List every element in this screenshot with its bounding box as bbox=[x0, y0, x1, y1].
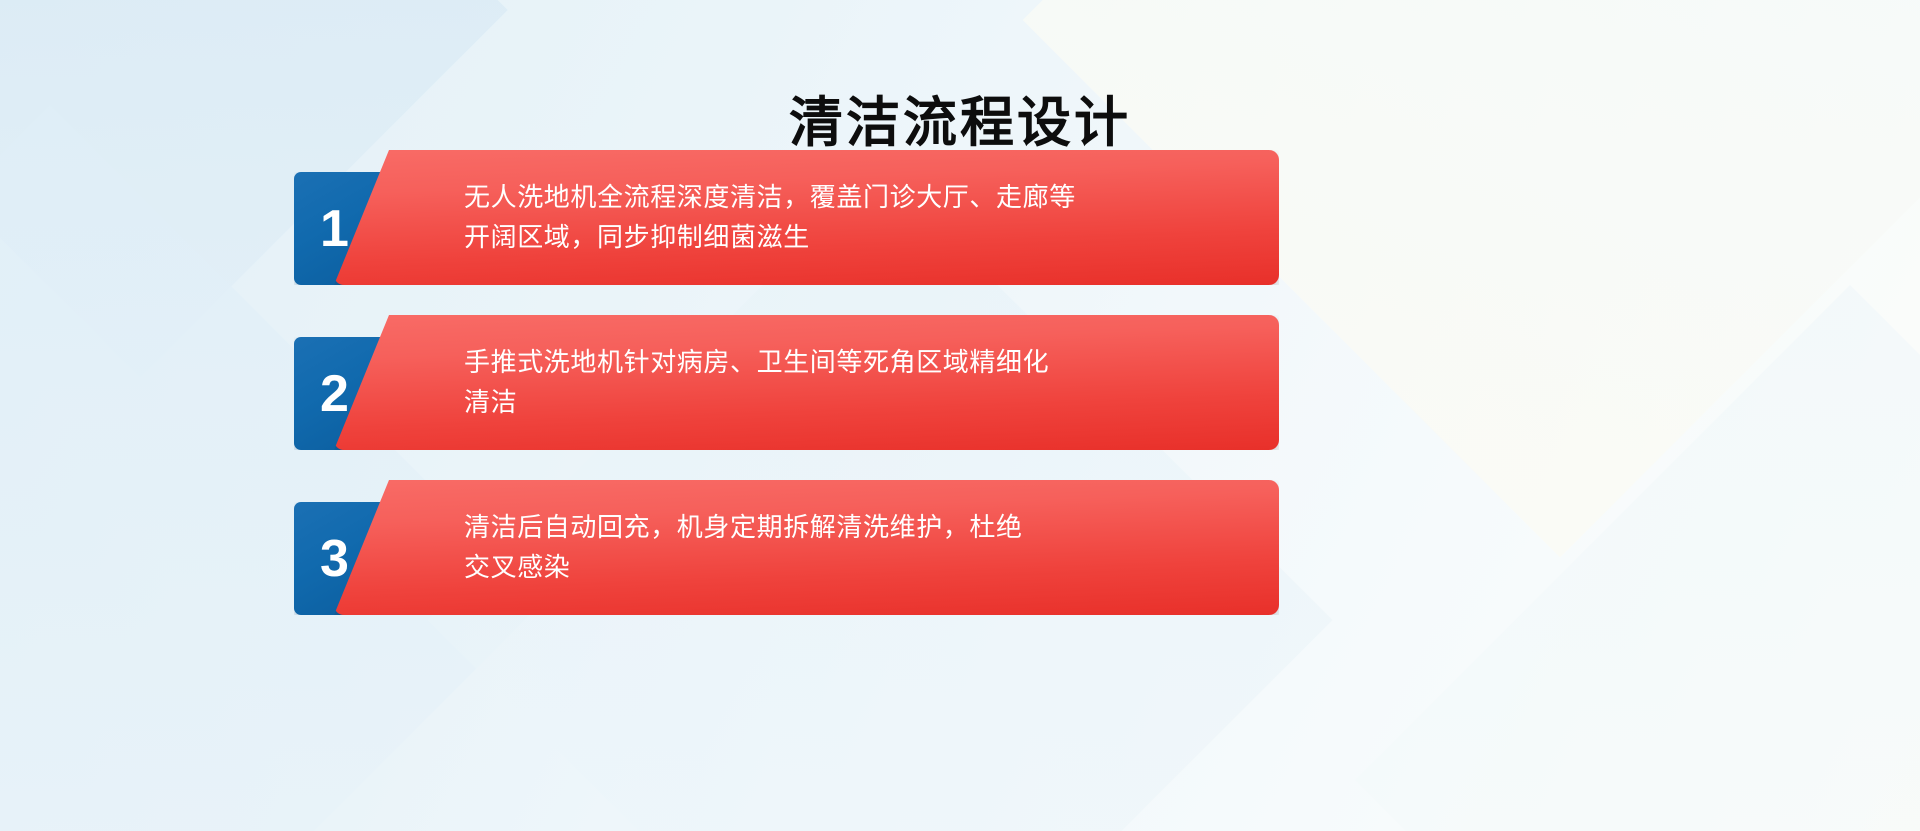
step-number-label: 3 bbox=[320, 533, 349, 585]
list-item[interactable]: 清洁后自动回充，机身定期拆解清洗维护，杜绝 交叉感染 3 bbox=[294, 480, 1294, 615]
step-list: 无人洗地机全流程深度清洁，覆盖门诊大厅、走廊等 开阔区域，同步抑制细菌滋生 1 … bbox=[294, 150, 1294, 645]
step-card-3[interactable]: 清洁后自动回充，机身定期拆解清洗维护，杜绝 交叉感染 bbox=[334, 480, 1279, 615]
page-title: 清洁流程设计 bbox=[0, 92, 1920, 154]
step-number-label: 2 bbox=[320, 368, 349, 420]
list-item[interactable]: 无人洗地机全流程深度清洁，覆盖门诊大厅、走廊等 开阔区域，同步抑制细菌滋生 1 bbox=[294, 150, 1294, 285]
background-diagonal-shape-5 bbox=[1355, 285, 1920, 831]
list-item[interactable]: 手推式洗地机针对病房、卫生间等死角区域精细化 清洁 2 bbox=[294, 315, 1294, 450]
step-description: 清洁后自动回充，机身定期拆解清洗维护，杜绝 交叉感染 bbox=[334, 508, 1093, 587]
step-card-1[interactable]: 无人洗地机全流程深度清洁，覆盖门诊大厅、走廊等 开阔区域，同步抑制细菌滋生 bbox=[334, 150, 1279, 285]
step-description: 手推式洗地机针对病房、卫生间等死角区域精细化 清洁 bbox=[334, 343, 1119, 422]
step-card-2[interactable]: 手推式洗地机针对病房、卫生间等死角区域精细化 清洁 bbox=[334, 315, 1279, 450]
slide-canvas: 清洁流程设计 无人洗地机全流程深度清洁，覆盖门诊大厅、走廊等 开阔区域，同步抑制… bbox=[0, 0, 1920, 831]
step-number-label: 1 bbox=[320, 203, 349, 255]
step-description: 无人洗地机全流程深度清洁，覆盖门诊大厅、走廊等 开阔区域，同步抑制细菌滋生 bbox=[334, 178, 1146, 257]
